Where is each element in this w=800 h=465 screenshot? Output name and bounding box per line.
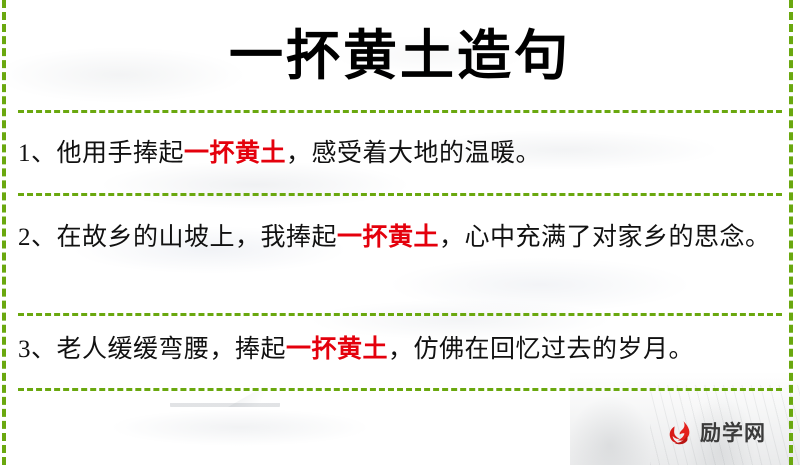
left-dashed-border xyxy=(2,0,6,465)
divider-below-sentence-3 xyxy=(18,388,782,391)
sentence-3-index: 3、 xyxy=(18,336,57,363)
sentence-3-keyword: 一抔黄土 xyxy=(286,334,388,363)
background-mist-cloud xyxy=(60,400,420,455)
flame-swirl-icon xyxy=(664,418,694,448)
sentence-item-2: 2、在故乡的山坡上，我捧起一抔黄土，心中充满了对家乡的思念。 xyxy=(18,216,784,258)
background-mountain xyxy=(570,355,800,465)
page-title: 一抔黄土造句 xyxy=(0,16,800,94)
sentence-3-text-before: 老人缓缓弯腰，捧起 xyxy=(57,336,287,363)
background-boat xyxy=(170,398,280,414)
worksheet-page: 一抔黄土造句 1、他用手捧起一抔黄土，感受着大地的温暖。 2、在故乡的山坡上，我… xyxy=(0,0,800,465)
sentence-3-text-after: ，仿佛在回忆过去的岁月。 xyxy=(388,336,694,363)
sentence-item-3: 3、老人缓缓弯腰，捧起一抔黄土，仿佛在回忆过去的岁月。 xyxy=(18,328,784,370)
divider-above-sentence-3 xyxy=(18,313,782,316)
brand-name: 励学网 xyxy=(700,420,766,446)
sentence-2-text-after: ，心中充满了对家乡的思念。 xyxy=(439,224,771,251)
sentence-2-index: 2、 xyxy=(18,224,57,251)
sentence-1-text-after: ，感受着大地的温暖。 xyxy=(286,140,541,167)
divider-above-sentence-2 xyxy=(18,193,782,196)
sentence-2-keyword: 一抔黄土 xyxy=(337,222,439,251)
sentence-1-keyword: 一抔黄土 xyxy=(184,138,286,167)
sentence-2-text-before: 在故乡的山坡上，我捧起 xyxy=(57,224,338,251)
sentence-1-index: 1、 xyxy=(18,140,57,167)
divider-above-sentence-1 xyxy=(18,110,782,113)
right-dashed-border xyxy=(789,0,793,465)
sentence-1-text-before: 他用手捧起 xyxy=(57,140,185,167)
brand-watermark: 励学网 xyxy=(664,418,766,448)
sentence-item-1: 1、他用手捧起一抔黄土，感受着大地的温暖。 xyxy=(18,132,784,174)
